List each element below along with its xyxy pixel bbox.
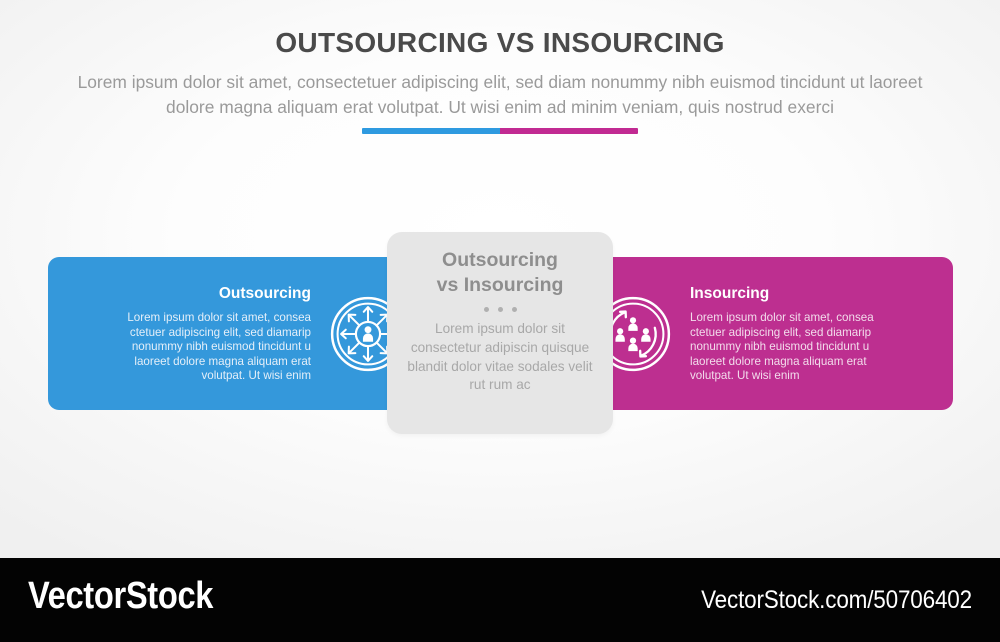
title-divider — [362, 128, 638, 134]
infographic-artboard: OUTSOURCING VS INSOURCING Lorem ipsum do… — [0, 0, 1000, 558]
separator-dot — [498, 307, 503, 312]
screenshot-root: OUTSOURCING VS INSOURCING Lorem ipsum do… — [0, 0, 1000, 642]
insourcing-heading: Insourcing — [690, 285, 905, 303]
page-subtitle: Lorem ipsum dolor sit amet, consectetuer… — [60, 70, 940, 120]
center-card-title: Outsourcing vs Insourcing — [405, 248, 595, 298]
outsourcing-description: Lorem ipsum dolor sit amet, consea ctetu… — [96, 311, 311, 383]
dot-separator — [405, 307, 595, 312]
vectorstock-url: VectorStock.com/50706402 — [701, 586, 972, 615]
divider-segment-magenta — [500, 128, 638, 134]
vectorstock-logo: VectorStock — [28, 575, 213, 618]
center-comparison-card[interactable]: Outsourcing vs Insourcing Lorem ipsum do… — [387, 232, 613, 434]
separator-dot — [512, 307, 517, 312]
insourcing-text-block: Insourcing Lorem ipsum dolor sit amet, c… — [690, 283, 905, 383]
insourcing-description: Lorem ipsum dolor sit amet, consea ctetu… — [690, 311, 905, 383]
watermark-footer: VectorStock VectorStock.com/50706402 — [0, 558, 1000, 642]
divider-segment-blue — [362, 128, 500, 134]
outsourcing-heading: Outsourcing — [96, 285, 311, 303]
outsourcing-text-block: Outsourcing Lorem ipsum dolor sit amet, … — [96, 283, 311, 383]
separator-dot — [484, 307, 489, 312]
center-card-description: Lorem ipsum dolor sit consectetur adipis… — [405, 320, 595, 395]
page-title: OUTSOURCING VS INSOURCING — [0, 27, 1000, 59]
